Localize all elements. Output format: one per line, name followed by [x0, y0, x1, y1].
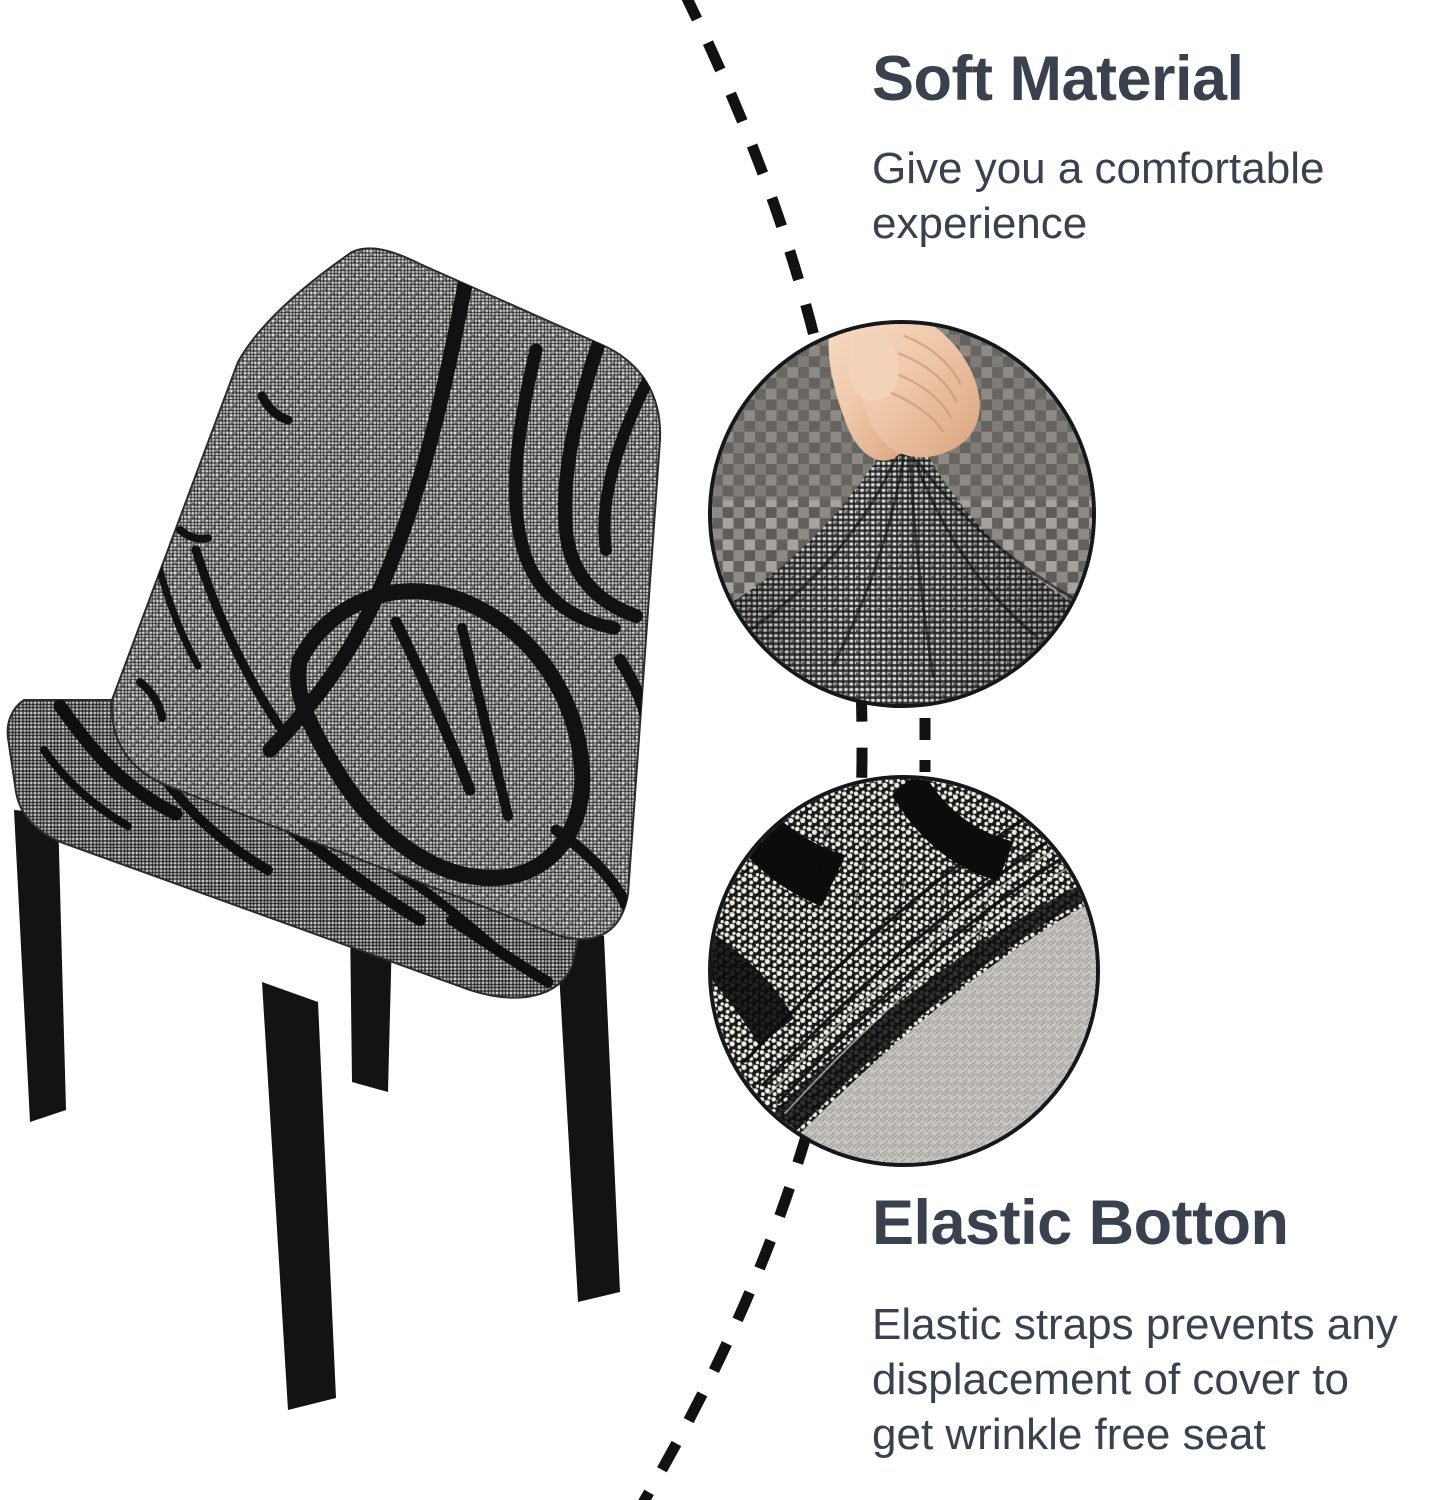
chair-leg-front-left [262, 982, 336, 1410]
feature-description-line: get wrinkle free seat [872, 1410, 1266, 1459]
inset-elastic-band-edge [708, 775, 1100, 1167]
feature-title-soft-material: Soft Material [872, 44, 1412, 115]
feature-title-elastic-bottom: Elastic Botton [872, 1188, 1422, 1259]
feature-description-soft-material: Give you a comfortable experience [872, 141, 1412, 252]
inset-stretch-pinch [708, 320, 1096, 708]
feature-block-soft-material: Soft Material Give you a comfortable exp… [872, 44, 1412, 251]
feature-description-line: displacement of cover to [872, 1355, 1349, 1404]
feature-block-elastic-bottom: Elastic Botton Elastic straps prevents a… [872, 1188, 1422, 1463]
chair-product-image [0, 230, 690, 1430]
feature-description-line: Elastic straps prevents any [872, 1300, 1398, 1349]
feature-description-line: experience [872, 199, 1087, 248]
feature-description-elastic-bottom: Elastic straps prevents any displacement… [872, 1297, 1422, 1463]
feature-description-line: Give you a comfortable [872, 144, 1324, 193]
chair-leg-rear-left [14, 810, 66, 1122]
infographic-page: Soft Material Give you a comfortable exp… [0, 0, 1447, 1500]
